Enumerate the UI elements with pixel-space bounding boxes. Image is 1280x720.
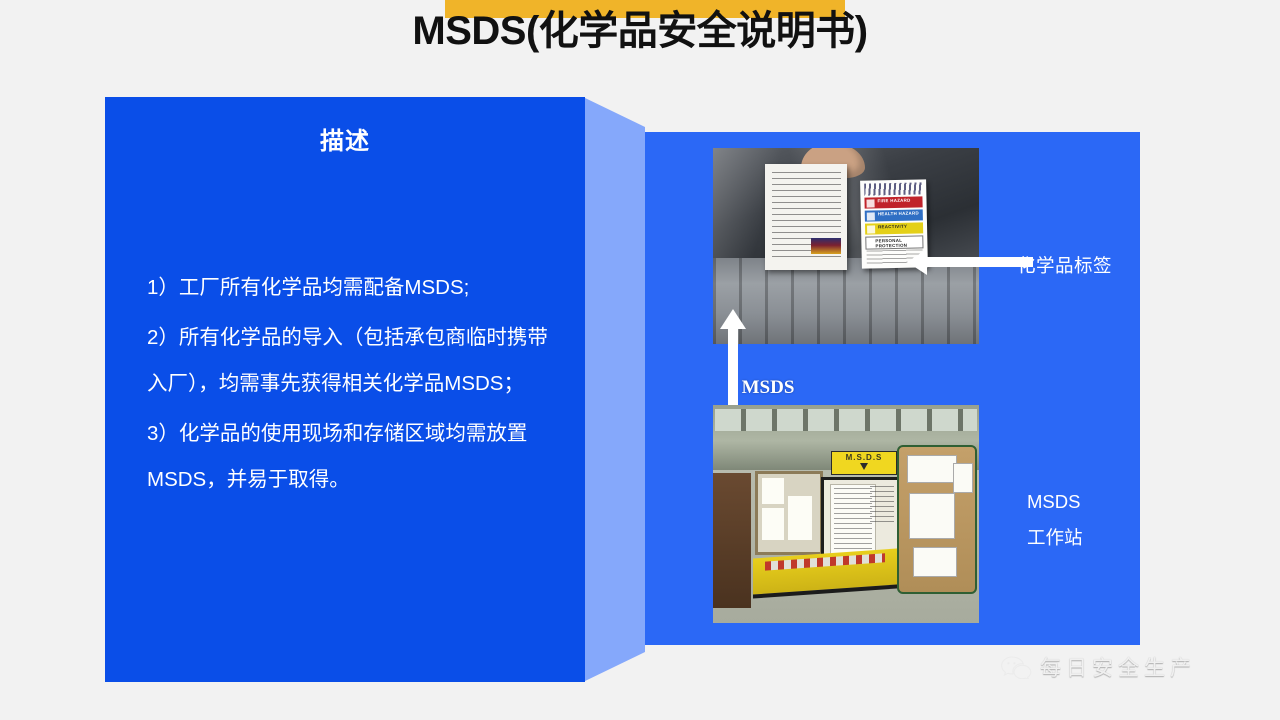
description-item-3: 3）化学品的使用现场和存储区域均需放置MSDS，并易于取得。	[147, 411, 557, 503]
corkboard-page	[907, 455, 957, 483]
panel-3d-side-face	[583, 97, 645, 682]
photo2-left-notice-case	[755, 471, 823, 555]
whiteboard-surface	[824, 480, 898, 556]
photo2-doorway	[713, 473, 751, 608]
notice-page	[788, 496, 812, 540]
health-diamond-icon	[867, 212, 875, 220]
msds-whiteboard	[821, 477, 901, 559]
arrow-left-head	[907, 249, 927, 275]
page-title: MSDS(化学品安全说明书)	[0, 4, 1280, 58]
fire-diamond-icon	[866, 199, 874, 207]
caption-chemical-label: 化学品标签	[1017, 252, 1112, 278]
band-health-hazard: HEALTH HAZARD	[865, 209, 923, 221]
images-panel: FIRE HAZARD HEALTH HAZARD REACTIVITY PER…	[645, 132, 1140, 645]
whiteboard-notes	[870, 486, 894, 526]
corkboard-page	[913, 547, 957, 577]
photo-msds-workstation: M.S.D.S	[713, 405, 979, 623]
description-panel-header: 描述	[105, 121, 585, 156]
label-handwritten-title	[864, 182, 922, 195]
arrow-up-head	[720, 309, 746, 329]
band-reactivity: REACTIVITY	[865, 222, 923, 234]
arrow-up-stem	[728, 328, 738, 412]
band-fire-label: FIRE HAZARD	[877, 198, 910, 204]
corkboard-page	[953, 463, 973, 493]
panel-front-face: 描述 1）工厂所有化学品均需配备MSDS; 2）所有化学品的导入（包括承包商临时…	[105, 97, 585, 682]
description-list: 1）工厂所有化学品均需配备MSDS; 2）所有化学品的导入（包括承包商临时携带入…	[147, 265, 557, 507]
photo-msds-document-and-label: FIRE HAZARD HEALTH HAZARD REACTIVITY PER…	[713, 148, 979, 344]
reactivity-diamond-icon	[867, 225, 875, 233]
notice-page	[762, 478, 784, 504]
photo1-pallet-base	[713, 258, 979, 344]
wechat-icon	[1000, 655, 1032, 679]
notice-page	[762, 508, 784, 540]
description-item-2: 2）所有化学品的导入（包括承包商临时携带入厂），均需事先获得相关化学品MSDS；	[147, 315, 557, 407]
watermark-text: 每日安全生产	[1040, 652, 1196, 682]
corkboard-page	[909, 493, 955, 539]
band-fire-hazard: FIRE HAZARD	[864, 196, 922, 208]
band-reactivity-label: REACTIVITY	[878, 224, 907, 230]
description-item-1: 1）工厂所有化学品均需配备MSDS;	[147, 265, 557, 311]
caption-msds: MSDS	[703, 377, 833, 399]
band-personal-protection: PERSONAL PROTECTION	[865, 235, 923, 249]
msds-sign-text: M.S.D.S	[832, 453, 896, 462]
band-health-label: HEALTH HAZARD	[878, 210, 919, 216]
document-color-chip	[811, 238, 841, 254]
corkboard	[897, 445, 977, 594]
caption-station-line2: 工作站	[1027, 520, 1083, 556]
band-ppe-label: PERSONAL PROTECTION	[875, 237, 922, 248]
down-arrow-icon	[860, 463, 868, 470]
msds-document-sheet	[765, 164, 847, 270]
photo2-window-row	[715, 409, 977, 431]
caption-msds-workstation: MSDS 工作站	[1027, 484, 1083, 556]
msds-yellow-sign: M.S.D.S	[831, 451, 897, 475]
caption-station-line1: MSDS	[1027, 484, 1083, 520]
watermark: 每日安全生产	[1000, 652, 1196, 682]
description-panel: 描述 1）工厂所有化学品均需配备MSDS; 2）所有化学品的导入（包括承包商临时…	[105, 97, 640, 684]
slide-root: MSDS(化学品安全说明书) 描述 1）工厂所有化学品均需配备MSDS; 2）所…	[0, 0, 1280, 720]
